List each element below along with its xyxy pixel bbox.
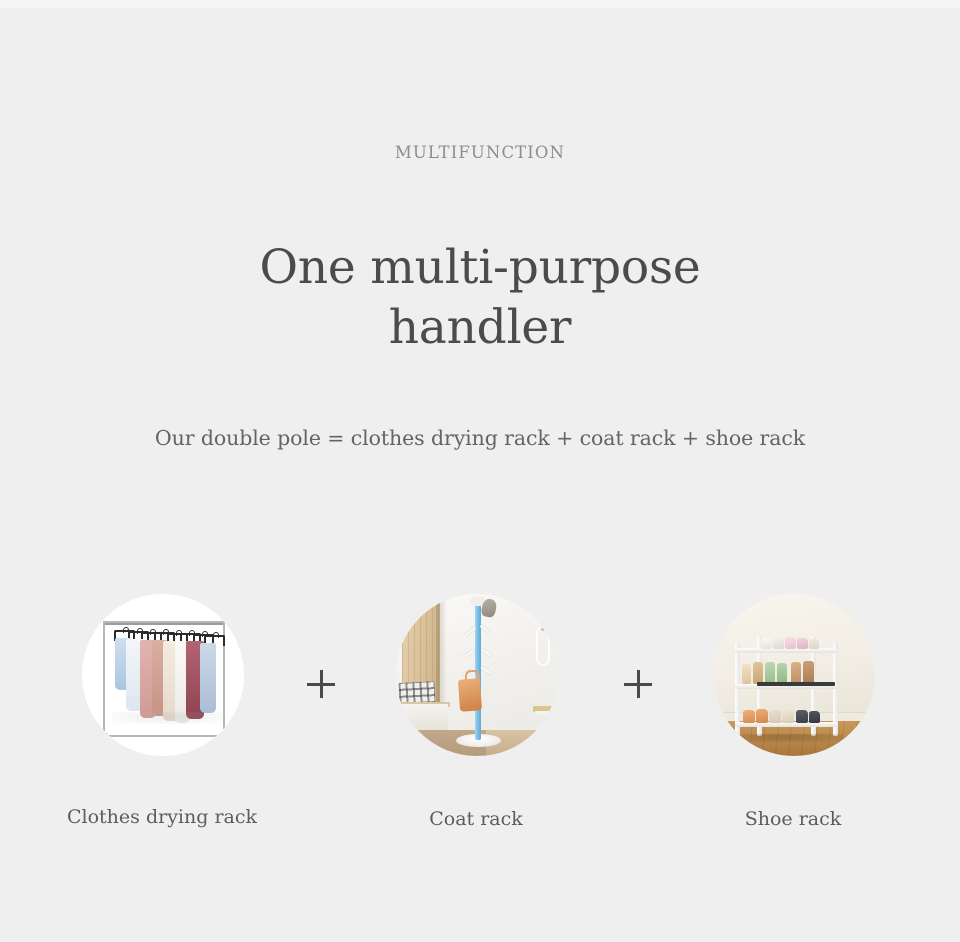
feature-items-row: Clothes drying rack	[0, 594, 960, 844]
subtitle-text: Our double pole = clothes drying rack + …	[0, 423, 960, 453]
feature-item-shoe-rack: Shoe rack	[668, 594, 918, 844]
feature-item-coat-rack: Coat rack	[351, 594, 601, 844]
eyebrow-text: MULTIFUNCTION	[0, 141, 960, 165]
top-strip	[0, 0, 960, 8]
page-title-line-2: handler	[0, 298, 960, 358]
product-feature-page: MULTIFUNCTION One multi-purpose handler …	[0, 0, 960, 942]
clothes-drying-rack-photo	[82, 594, 244, 756]
feature-item-clothes-drying-rack: Clothes drying rack	[37, 594, 287, 844]
feature-item-caption: Clothes drying rack	[37, 804, 287, 830]
feature-item-caption: Coat rack	[351, 806, 601, 832]
page-title-line-1: One multi-purpose	[0, 238, 960, 298]
feature-item-caption: Shoe rack	[668, 806, 918, 832]
coat-rack-photo	[396, 594, 558, 756]
shoe-rack-photo	[713, 594, 875, 756]
page-title: One multi-purpose handler	[0, 238, 960, 358]
